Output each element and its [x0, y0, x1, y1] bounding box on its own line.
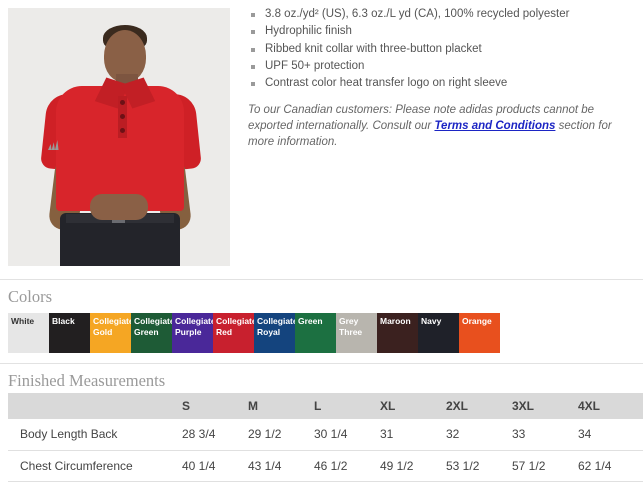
- product-overview-section: 3.8 oz./yd² (US), 6.3 oz./L yd (CA), 100…: [0, 0, 643, 266]
- color-swatch-label: White: [11, 316, 48, 327]
- cell-value: 10 1/2: [380, 481, 446, 492]
- column-header-m: M: [248, 393, 314, 419]
- cell-value: 9 1/2: [182, 481, 248, 492]
- column-header-4xl: 4XL: [578, 393, 643, 419]
- cell-value: 46 1/2: [314, 450, 380, 481]
- table-row: Chest Circumference 40 1/4 43 1/4 46 1/2…: [8, 450, 643, 481]
- color-swatch-label: Collegiate Purple: [175, 316, 212, 337]
- color-swatch-label: Navy: [421, 316, 458, 327]
- cell-value: 34: [578, 419, 643, 450]
- cell-value: 49 1/2: [380, 450, 446, 481]
- color-swatch-collegiate-purple[interactable]: Collegiate Purple: [172, 313, 213, 353]
- cell-value: 43 1/4: [248, 450, 314, 481]
- column-header-blank: [8, 393, 182, 419]
- photo-button-bottom: [120, 128, 125, 133]
- list-item: Contrast color heat transfer logo on rig…: [248, 75, 637, 92]
- color-swatch-label: Maroon: [380, 316, 417, 327]
- color-swatch-collegiate-red[interactable]: Collegiate Red: [213, 313, 254, 353]
- column-header-xl: XL: [380, 393, 446, 419]
- cell-value: 30 1/4: [314, 419, 380, 450]
- cell-value: 10: [248, 481, 314, 492]
- photo-button-middle: [120, 114, 125, 119]
- cell-value: 40 1/4: [182, 450, 248, 481]
- cell-value: 62 1/4: [578, 450, 643, 481]
- cell-value: 29 1/2: [248, 419, 314, 450]
- cell-value: 33: [512, 419, 578, 450]
- row-label: Sleeve Length: [8, 481, 182, 492]
- color-swatch-label: Collegiate Red: [216, 316, 253, 337]
- color-swatch-label: Collegiate Gold: [93, 316, 130, 337]
- color-swatch-row: White Black Collegiate Gold Collegiate G…: [8, 313, 643, 353]
- cell-value: 10 1/4: [314, 481, 380, 492]
- terms-and-conditions-link[interactable]: Terms and Conditions: [434, 120, 555, 132]
- color-swatch-black[interactable]: Black: [49, 313, 90, 353]
- color-swatch-collegiate-gold[interactable]: Collegiate Gold: [90, 313, 131, 353]
- cell-value: 28 3/4: [182, 419, 248, 450]
- cell-value: 31: [380, 419, 446, 450]
- cell-value: 11 1/4: [512, 481, 578, 492]
- color-swatch-label: Collegiate Green: [134, 316, 171, 337]
- product-image[interactable]: [8, 8, 230, 266]
- color-swatch-label: Collegiate Royal: [257, 316, 294, 337]
- list-item: Ribbed knit collar with three-button pla…: [248, 41, 637, 58]
- column-header-l: L: [314, 393, 380, 419]
- column-header-3xl: 3XL: [512, 393, 578, 419]
- cell-value: 53 1/2: [446, 450, 512, 481]
- color-swatch-collegiate-green[interactable]: Collegiate Green: [131, 313, 172, 353]
- product-detail-page: 3.8 oz./yd² (US), 6.3 oz./L yd (CA), 100…: [0, 0, 643, 492]
- color-swatch-green[interactable]: Green: [295, 313, 336, 353]
- color-swatch-label: Black: [52, 316, 89, 327]
- cell-value: 57 1/2: [512, 450, 578, 481]
- color-swatch-label: Green: [298, 316, 335, 327]
- colors-heading: Colors: [0, 280, 643, 309]
- table-header-row: S M L XL 2XL 3XL 4XL: [8, 393, 643, 419]
- canadian-customers-disclaimer: To our Canadian customers: Please note a…: [248, 103, 637, 150]
- color-swatch-orange[interactable]: Orange: [459, 313, 500, 353]
- color-swatch-grey-three[interactable]: Grey Three: [336, 313, 377, 353]
- cell-value: 32: [446, 419, 512, 450]
- cell-value: 11 1/2: [578, 481, 643, 492]
- list-item: 3.8 oz./yd² (US), 6.3 oz./L yd (CA), 100…: [248, 6, 637, 23]
- color-swatch-white[interactable]: White: [8, 313, 49, 353]
- photo-hands: [90, 194, 148, 220]
- color-swatch-label: Grey Three: [339, 316, 376, 337]
- column-header-2xl: 2XL: [446, 393, 512, 419]
- color-swatch-navy[interactable]: Navy: [418, 313, 459, 353]
- color-swatch-label: Orange: [462, 316, 499, 327]
- feature-list: 3.8 oz./yd² (US), 6.3 oz./L yd (CA), 100…: [248, 6, 637, 92]
- list-item: UPF 50+ protection: [248, 58, 637, 75]
- photo-button-top: [120, 100, 125, 105]
- cell-value: 10 3/4: [446, 481, 512, 492]
- table-row: Body Length Back 28 3/4 29 1/2 30 1/4 31…: [8, 419, 643, 450]
- color-swatch-maroon[interactable]: Maroon: [377, 313, 418, 353]
- row-label: Chest Circumference: [8, 450, 182, 481]
- finished-measurements-heading: Finished Measurements: [0, 364, 643, 393]
- table-row: Sleeve Length 9 1/2 10 10 1/4 10 1/2 10 …: [8, 481, 643, 492]
- column-header-s: S: [182, 393, 248, 419]
- list-item: Hydrophilic finish: [248, 23, 637, 40]
- color-swatch-collegiate-royal[interactable]: Collegiate Royal: [254, 313, 295, 353]
- product-description: 3.8 oz./yd² (US), 6.3 oz./L yd (CA), 100…: [230, 0, 643, 150]
- finished-measurements-table: S M L XL 2XL 3XL 4XL Body Length Back 28…: [8, 393, 643, 492]
- row-label: Body Length Back: [8, 419, 182, 450]
